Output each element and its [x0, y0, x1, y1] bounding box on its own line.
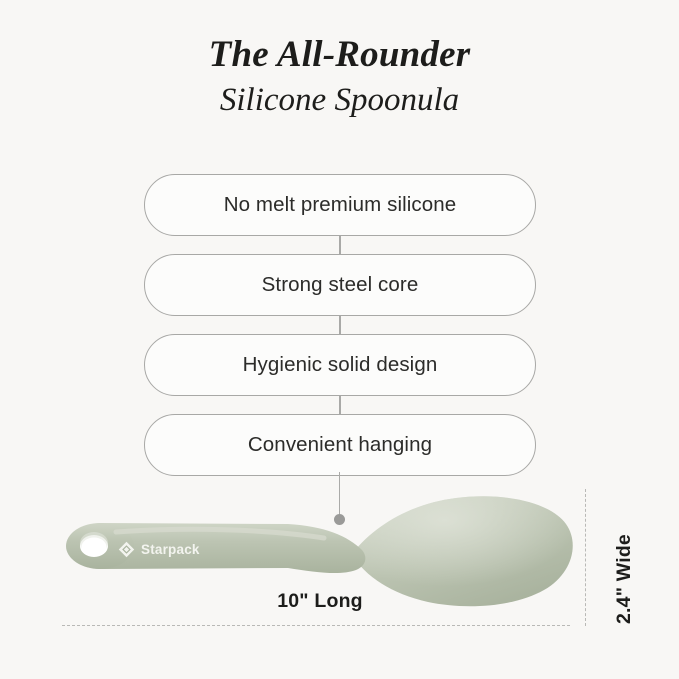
pill-connector-3 — [339, 396, 340, 414]
feature-pill-strong-steel-core: Strong steel core — [144, 254, 536, 316]
feature-pill-no-melt-premium-silicone: No melt premium silicone — [144, 174, 536, 236]
feature-label: Strong steel core — [262, 275, 419, 296]
pill-connector-1 — [339, 236, 340, 254]
feature-label: Hygienic solid design — [243, 355, 438, 376]
length-label: 10" Long — [0, 590, 640, 613]
feature-label: Convenient hanging — [248, 435, 432, 456]
length-guide-line — [62, 625, 570, 626]
brand-lockup: Starpack — [118, 541, 200, 558]
feature-list: No melt premium silicone Strong steel co… — [144, 174, 536, 476]
feature-row-4: Convenient hanging — [144, 414, 536, 476]
width-label: 2.4" Wide — [613, 490, 643, 624]
feature-row-2: Strong steel core — [144, 254, 536, 316]
hanging-hole-inner — [82, 538, 107, 557]
pill-connector-2 — [339, 316, 340, 334]
feature-row-1: No melt premium silicone — [144, 174, 536, 236]
feature-pill-hygienic-solid-design: Hygienic solid design — [144, 334, 536, 396]
starpack-diamond-icon — [118, 541, 135, 558]
page-subtitle: Silicone Spoonula — [0, 81, 679, 121]
page-title: The All-Rounder — [0, 34, 679, 75]
product-infographic: The All-Rounder Silicone Spoonula No mel… — [0, 0, 679, 679]
brand-name: Starpack — [141, 543, 200, 557]
feature-row-3: Hygienic solid design — [144, 334, 536, 396]
title-block: The All-Rounder Silicone Spoonula — [0, 34, 679, 121]
feature-pill-convenient-hanging: Convenient hanging — [144, 414, 536, 476]
feature-label: No melt premium silicone — [224, 195, 457, 216]
